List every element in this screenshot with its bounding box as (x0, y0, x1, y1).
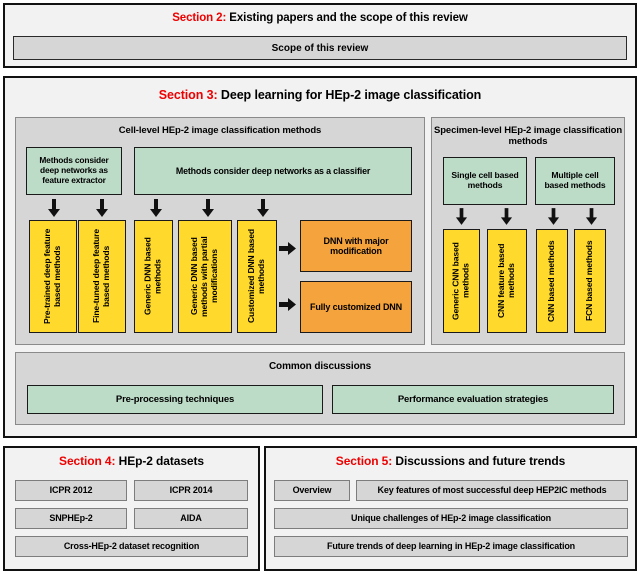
dataset-item-icpr-2012[interactable]: ICPR 2012 (15, 480, 127, 501)
specimen-level-panel-title: Specimen-level HEp-2 image classificatio… (432, 125, 624, 147)
cell-level-panel-title: Cell-level HEp-2 image classification me… (16, 125, 424, 136)
section-5-title: Section 5: Discussions and future trends (266, 455, 635, 468)
common-discussions-panel: Common discussions Pre-processing techni… (15, 352, 625, 425)
leaf-cnn-based-specimen-label: CNN based methods (547, 240, 557, 322)
leaf-generic-dnn-label: Generic DNN based methods (144, 225, 164, 328)
discussion-item-unique-challenges-label: Unique challenges of HEp-2 image classif… (351, 513, 551, 523)
section-5-title-text: Discussions and future trends (392, 454, 565, 468)
group-single-cell-based-label: Single cell based methods (447, 171, 523, 191)
section-2-title-text: Existing papers and the scope of this re… (226, 12, 468, 24)
leaf-fine-tuned-deep-feature-label: Fine-tuned deep feature based methods (92, 225, 112, 328)
specimen-level-title-text: Specimen-level HEp-2 image classificatio… (434, 125, 622, 147)
common-discussions-title: Common discussions (16, 361, 624, 373)
group-classifier[interactable]: Methods consider deep networks as a clas… (134, 147, 412, 195)
scope-of-this-review-box[interactable]: Scope of this review (13, 36, 627, 60)
common-item-preprocessing-label: Pre-processing techniques (116, 394, 234, 405)
discussion-item-key-features-label: Key features of most successful deep HEP… (378, 485, 607, 495)
dataset-item-icpr-2014-label: ICPR 2014 (170, 485, 213, 495)
common-item-performance-evaluation[interactable]: Performance evaluation strategies (332, 385, 614, 414)
down-arrow-icon (500, 208, 513, 225)
section-4-panel: Section 4: HEp-2 datasets ICPR 2012 ICPR… (3, 446, 260, 571)
leaf-dnn-with-major-modification[interactable]: DNN with major modification (300, 220, 412, 272)
down-arrow-icon (256, 199, 270, 217)
leaf-fine-tuned-deep-feature[interactable]: Fine-tuned deep feature based methods (78, 220, 126, 333)
group-single-cell-based[interactable]: Single cell based methods (443, 157, 527, 205)
dataset-item-snphep-2[interactable]: SNPHEp-2 (15, 508, 127, 529)
discussion-item-unique-challenges[interactable]: Unique challenges of HEp-2 image classif… (274, 508, 628, 529)
right-arrow-icon (279, 242, 296, 255)
dataset-item-cross-hep-2[interactable]: Cross-HEp-2 dataset recognition (15, 536, 248, 557)
section-4-title-text: HEp-2 datasets (115, 454, 204, 468)
discussion-item-future-trends[interactable]: Future trends of deep learning in HEp-2 … (274, 536, 628, 557)
leaf-fcn-based-specimen[interactable]: FCN based methods (574, 229, 606, 333)
scope-of-this-review-label: Scope of this review (272, 43, 369, 54)
discussion-item-overview-label: Overview (293, 485, 332, 495)
section-2-title: Section 2: Existing papers and the scope… (5, 12, 635, 25)
right-arrow-icon (279, 298, 296, 311)
down-arrow-icon (95, 199, 109, 217)
leaf-customized-dnn[interactable]: Customized DNN based methods (237, 220, 277, 333)
discussion-item-key-features[interactable]: Key features of most successful deep HEP… (356, 480, 628, 501)
section-5-panel: Section 5: Discussions and future trends… (264, 446, 637, 571)
leaf-cnn-feature-based-label: CNN feature based methods (497, 234, 517, 328)
leaf-pre-trained-deep-feature-label: Pre-trained deep feature based methods (43, 225, 63, 328)
leaf-customized-dnn-label: Customized DNN based methods (247, 225, 267, 328)
group-multiple-cell-based-label: Multiple cell based methods (539, 171, 611, 191)
leaf-pre-trained-deep-feature[interactable]: Pre-trained deep feature based methods (29, 220, 77, 333)
discussion-item-overview[interactable]: Overview (274, 480, 350, 501)
leaf-fcn-based-specimen-label: FCN based methods (585, 241, 595, 322)
down-arrow-icon (455, 208, 468, 225)
cell-level-panel: Cell-level HEp-2 image classification me… (15, 117, 425, 345)
dataset-item-icpr-2014[interactable]: ICPR 2014 (134, 480, 248, 501)
group-multiple-cell-based[interactable]: Multiple cell based methods (535, 157, 615, 205)
group-feature-extractor-label: Methods consider deep networks as featur… (30, 156, 118, 185)
leaf-generic-dnn-partial-mods-label: Generic DNN based methods with partial m… (190, 225, 220, 328)
down-arrow-icon (201, 199, 215, 217)
leaf-fully-customized-dnn-label: Fully customized DNN (310, 302, 402, 312)
common-discussions-title-text: Common discussions (269, 361, 371, 372)
group-feature-extractor[interactable]: Methods consider deep networks as featur… (26, 147, 122, 195)
leaf-generic-cnn-based-label: Generic CNN based methods (452, 234, 472, 328)
group-classifier-label: Methods consider deep networks as a clas… (176, 166, 370, 176)
section-3-title-text: Deep learning for HEp-2 image classifica… (218, 88, 482, 102)
section-4-title: Section 4: HEp-2 datasets (5, 455, 258, 468)
figure-canvas: Section 2: Existing papers and the scope… (0, 0, 640, 574)
cell-level-title-text: Cell-level HEp-2 image classification me… (119, 125, 321, 136)
section-3-number: Section 3: (159, 88, 218, 102)
leaf-fully-customized-dnn[interactable]: Fully customized DNN (300, 281, 412, 333)
dataset-item-icpr-2012-label: ICPR 2012 (50, 485, 93, 495)
down-arrow-icon (149, 199, 163, 217)
down-arrow-icon (47, 199, 61, 217)
section-3-panel: Section 3: Deep learning for HEp-2 image… (3, 76, 637, 438)
section-5-number: Section 5: (336, 454, 392, 468)
leaf-dnn-with-major-modification-label: DNN with major modification (305, 236, 407, 257)
dataset-item-cross-hep-2-label: Cross-HEp-2 dataset recognition (64, 541, 199, 551)
dataset-item-aida-label: AIDA (180, 513, 201, 523)
leaf-generic-dnn[interactable]: Generic DNN based methods (134, 220, 173, 333)
down-arrow-icon (585, 208, 598, 225)
leaf-cnn-based-specimen[interactable]: CNN based methods (536, 229, 568, 333)
section-2-panel: Section 2: Existing papers and the scope… (3, 3, 637, 68)
common-item-performance-evaluation-label: Performance evaluation strategies (398, 394, 548, 405)
dataset-item-aida[interactable]: AIDA (134, 508, 248, 529)
section-4-number: Section 4: (59, 454, 115, 468)
section-3-title: Section 3: Deep learning for HEp-2 image… (5, 89, 635, 103)
discussion-item-future-trends-label: Future trends of deep learning in HEp-2 … (327, 541, 575, 551)
dataset-item-snphep-2-label: SNPHEp-2 (49, 513, 92, 523)
leaf-cnn-feature-based[interactable]: CNN feature based methods (487, 229, 527, 333)
section-2-number: Section 2: (172, 12, 226, 24)
specimen-level-panel: Specimen-level HEp-2 image classificatio… (431, 117, 625, 345)
down-arrow-icon (547, 208, 560, 225)
leaf-generic-cnn-based[interactable]: Generic CNN based methods (443, 229, 480, 333)
leaf-generic-dnn-partial-mods[interactable]: Generic DNN based methods with partial m… (178, 220, 232, 333)
common-item-preprocessing[interactable]: Pre-processing techniques (27, 385, 323, 414)
